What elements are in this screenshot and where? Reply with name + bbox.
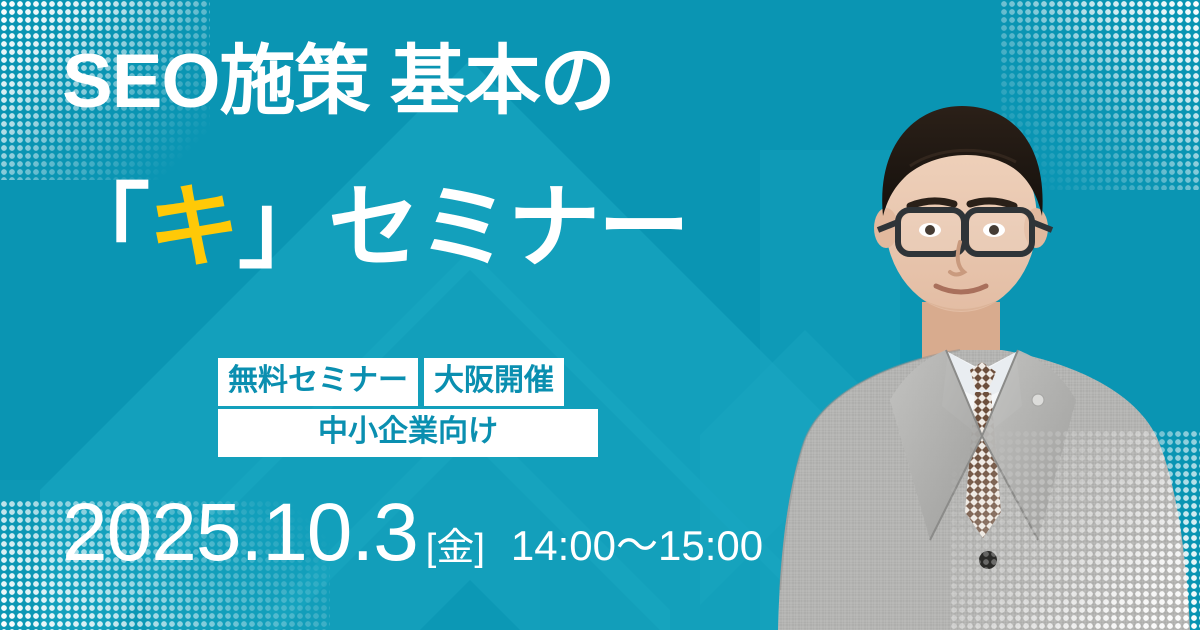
badge-row-secondary: 中小企業向け [218, 409, 598, 457]
headline-line-2: 「キ」セミナー [58, 182, 688, 274]
badge-target-audience: 中小企業向け [218, 409, 598, 457]
badge-row-primary: 無料セミナー 大阪開催 [218, 358, 564, 406]
close-bracket: 」 [238, 177, 328, 279]
event-time-range: 14:00〜15:00 [511, 525, 763, 567]
event-day-of-week: [金] [426, 529, 485, 567]
headline-accent-character: キ [148, 177, 238, 279]
event-date: 2025.10.3 [62, 492, 418, 574]
seminar-banner: SEO施策 基本の 「キ」セミナー 無料セミナー 大阪開催 中小企業向け 202… [0, 0, 1200, 630]
presenter-illustration [770, 70, 1200, 630]
open-bracket: 「 [58, 177, 148, 279]
badge-osaka-venue: 大阪開催 [424, 358, 564, 406]
badge-free-seminar: 無料セミナー [218, 358, 418, 406]
presenter-photo [770, 70, 1200, 630]
schedule-line: 2025.10.3 [金] 14:00〜15:00 [62, 492, 763, 574]
banner-content: SEO施策 基本の 「キ」セミナー 無料セミナー 大阪開催 中小企業向け 202… [0, 0, 830, 630]
headline-line-2-rest: セミナー [328, 177, 688, 279]
headline-line-1: SEO施策 基本の [62, 44, 615, 120]
